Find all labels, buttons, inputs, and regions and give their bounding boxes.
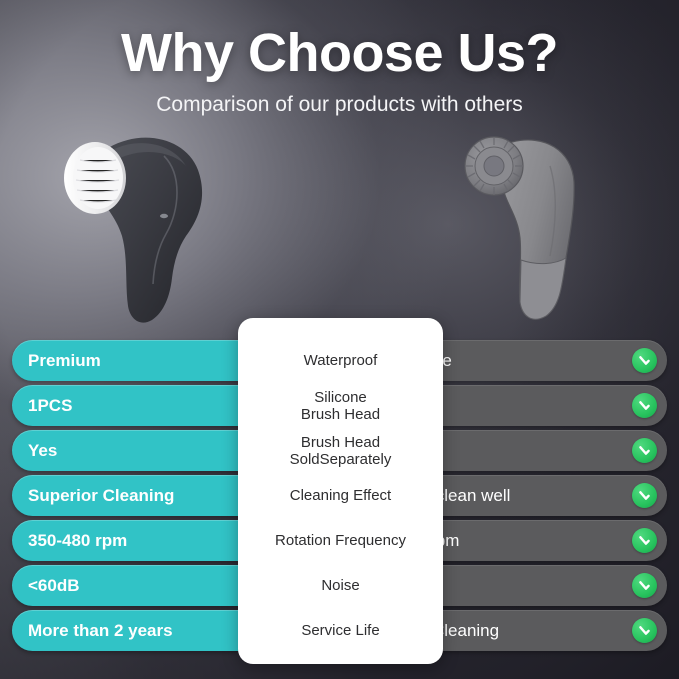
feature-label-row: Cleaning Effect [238,473,443,518]
our-value-text: <60dB [28,576,80,596]
our-value-text: Yes [28,441,57,461]
check-icon [632,348,657,373]
feature-label: Cleaning Effect [284,487,397,504]
our-value-text: 1PCS [28,396,72,416]
competitor-product-image [450,126,610,331]
infographic-canvas: Why Choose Us? Comparison of our product… [0,0,679,679]
check-icon [632,483,657,508]
check-icon [632,393,657,418]
our-value-text: Superior Cleaning [28,486,174,506]
our-value-text: More than 2 years [28,621,173,641]
feature-label-row: Brush HeadSoldSeparately [238,428,443,473]
feature-label: Rotation Frequency [269,532,412,549]
feature-label: Noise [315,577,365,594]
feature-label-card: Waterproof SiliconeBrush Head Brush Head… [238,318,443,664]
feature-label: Service Life [295,622,385,639]
our-product-image [46,112,231,330]
feature-label-row: SiliconeBrush Head [238,383,443,428]
check-icon [632,618,657,643]
feature-label: SiliconeBrush Head [295,389,386,423]
feature-label-row: Service Life [238,608,443,653]
check-icon [632,528,657,553]
feature-label-row: Waterproof [238,338,443,383]
feature-label: Waterproof [298,352,384,369]
feature-label-row: Rotation Frequency [238,518,443,563]
our-value-text: 350-480 rpm [28,531,127,551]
feature-label-row: Noise [238,563,443,608]
check-icon [632,438,657,463]
feature-label: Brush HeadSoldSeparately [284,434,398,468]
page-title: Why Choose Us? [0,22,679,84]
feature-label-list: Waterproof SiliconeBrush Head Brush Head… [238,338,443,653]
check-icon [632,573,657,598]
our-value-text: Premium [28,351,101,371]
